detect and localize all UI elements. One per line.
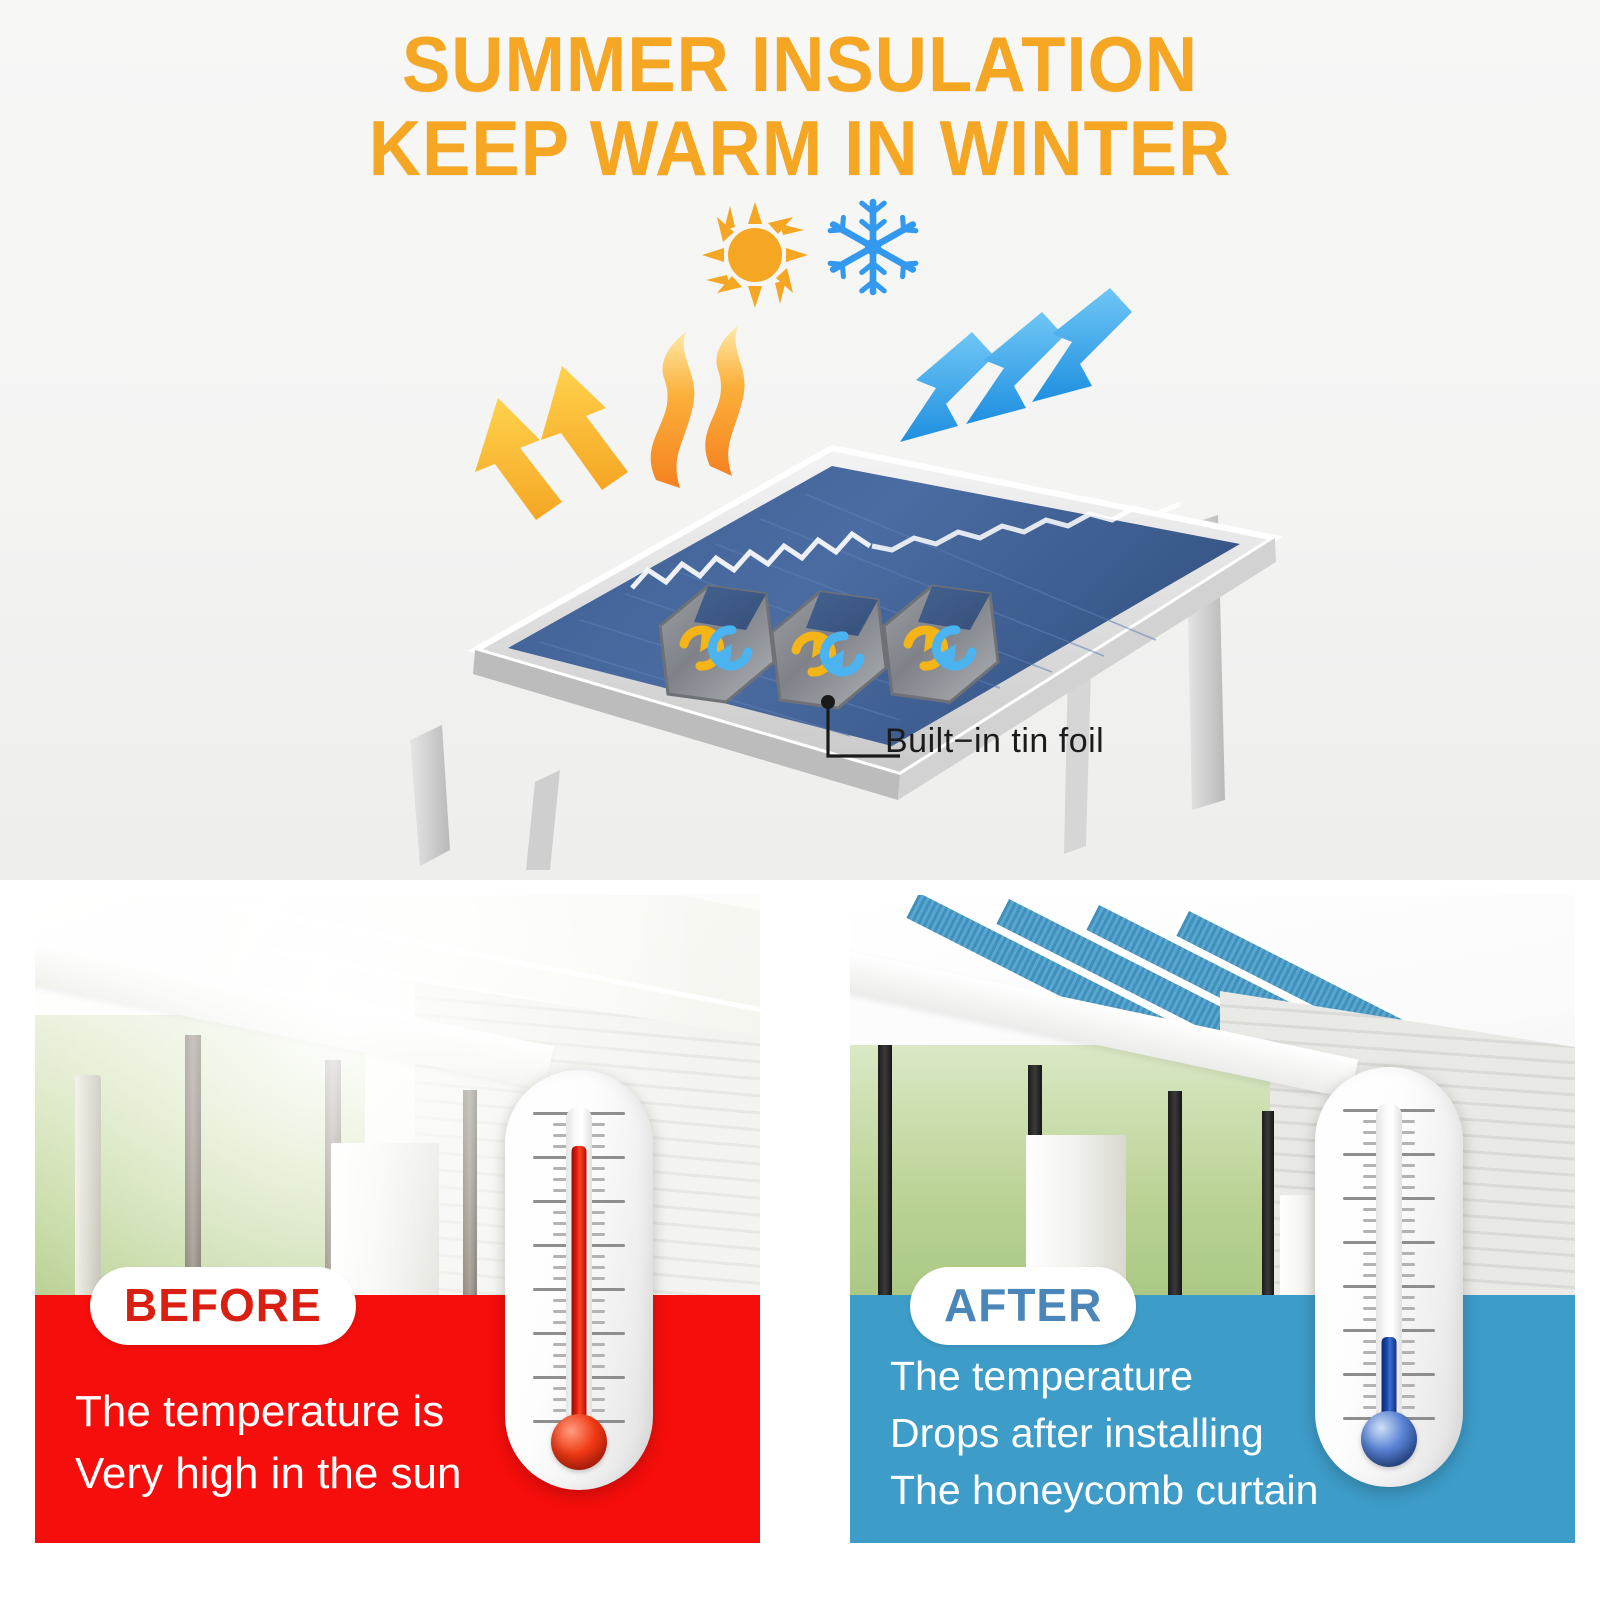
before-badge: BEFORE <box>90 1267 356 1345</box>
heat-blocked-arrows <box>475 366 628 520</box>
heat-rising-waves <box>651 326 745 488</box>
thermometer-tube <box>566 1106 592 1436</box>
thermometer-bulb <box>1361 1411 1417 1467</box>
headline-line-2: KEEP WARM IN WINTER <box>56 106 1544 190</box>
hero-section: SUMMER INSULATIONKEEP WARM IN WINTER <box>0 0 1600 880</box>
after-panel: AFTER The temperature Drops after instal… <box>850 895 1575 1543</box>
built-in-tin-foil-label: Built−in tin foil <box>885 722 1104 761</box>
thermometer-mercury <box>572 1146 587 1436</box>
thermometer-cool <box>1315 1067 1463 1487</box>
honeycomb-cell-cluster <box>660 586 998 708</box>
before-caption: The temperature is Very high in the sun <box>75 1381 461 1505</box>
cool-air-arrows <box>900 288 1132 442</box>
thermometer-tube <box>1376 1103 1402 1433</box>
headline-line-1: SUMMER INSULATION <box>402 20 1198 108</box>
before-panel: BEFORE The temperature is Very high in t… <box>35 895 760 1543</box>
after-badge: AFTER <box>910 1267 1136 1345</box>
after-caption: The temperature Drops after installing T… <box>890 1348 1318 1519</box>
page-headline: SUMMER INSULATIONKEEP WARM IN WINTER <box>56 22 1544 190</box>
thermometer-bulb <box>551 1414 607 1470</box>
pergola-illustration <box>380 270 1300 870</box>
thermometer-hot <box>505 1070 653 1490</box>
infographic-page: SUMMER INSULATIONKEEP WARM IN WINTER <box>0 0 1600 1600</box>
